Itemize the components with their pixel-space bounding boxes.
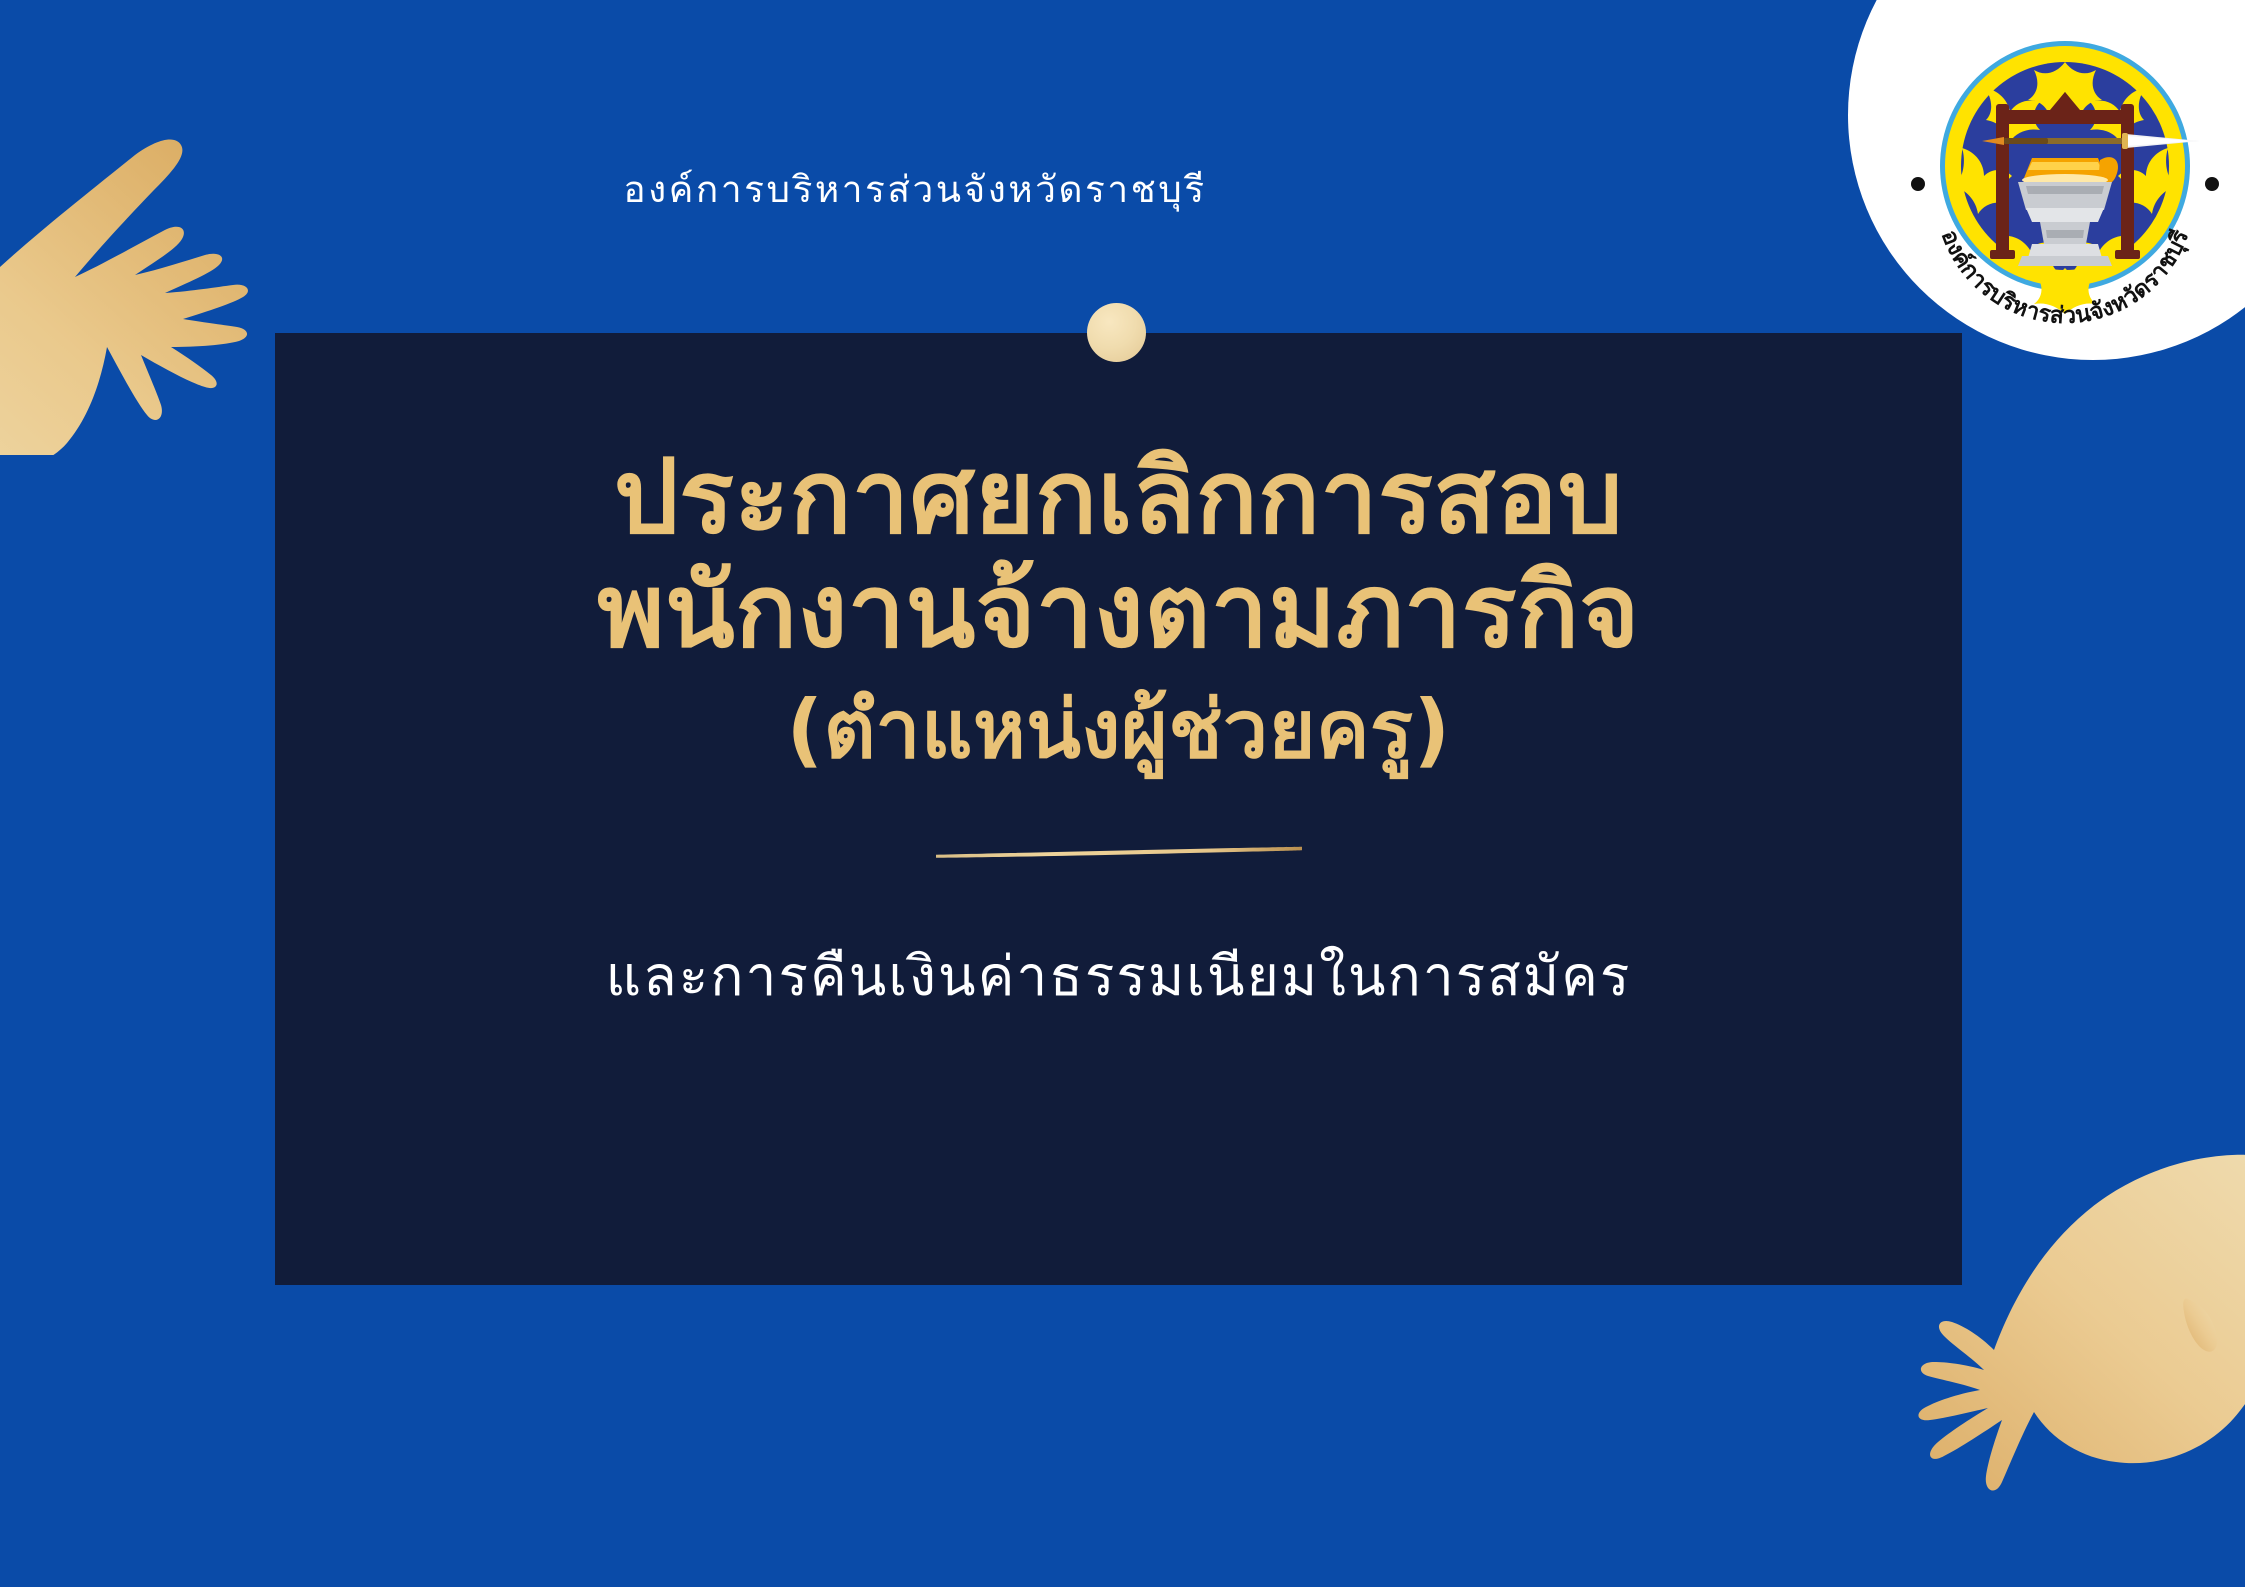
ratchaburi-pao-seal-icon: องค์การบริหารส่วนจังหวัดราชบุรี (1900, 18, 2230, 348)
gold-brush-divider (934, 845, 1304, 859)
announcement-footnote: และการคืนเงินค่าธรรมเนียมในการสมัคร (275, 933, 1962, 1020)
gold-brush-stroke-top-left (0, 35, 315, 455)
dot-separator-right (2205, 177, 2219, 191)
organization-header: องค์การบริหารส่วนจังหวัดราชบุรี (0, 160, 1830, 219)
title-subtitle: (ตำแหน่งผู้ช่วยครู) (275, 685, 1962, 775)
title-line-2: พนักงานจ้างตามภารกิจ (275, 555, 1962, 669)
announcement-card: ประกาศยกเลิกการสอบ พนักงานจ้างตามภารกิจ … (275, 333, 1962, 1285)
gold-circle-accent (1087, 303, 1146, 362)
announcement-poster: องค์การบริหารส่วนจังหวัดราชบุรี (0, 0, 2245, 1587)
title-line-1: ประกาศยกเลิกการสอบ (275, 441, 1962, 555)
title-block: ประกาศยกเลิกการสอบ พนักงานจ้างตามภารกิจ … (275, 441, 1962, 775)
dot-separator-left (1911, 177, 1925, 191)
